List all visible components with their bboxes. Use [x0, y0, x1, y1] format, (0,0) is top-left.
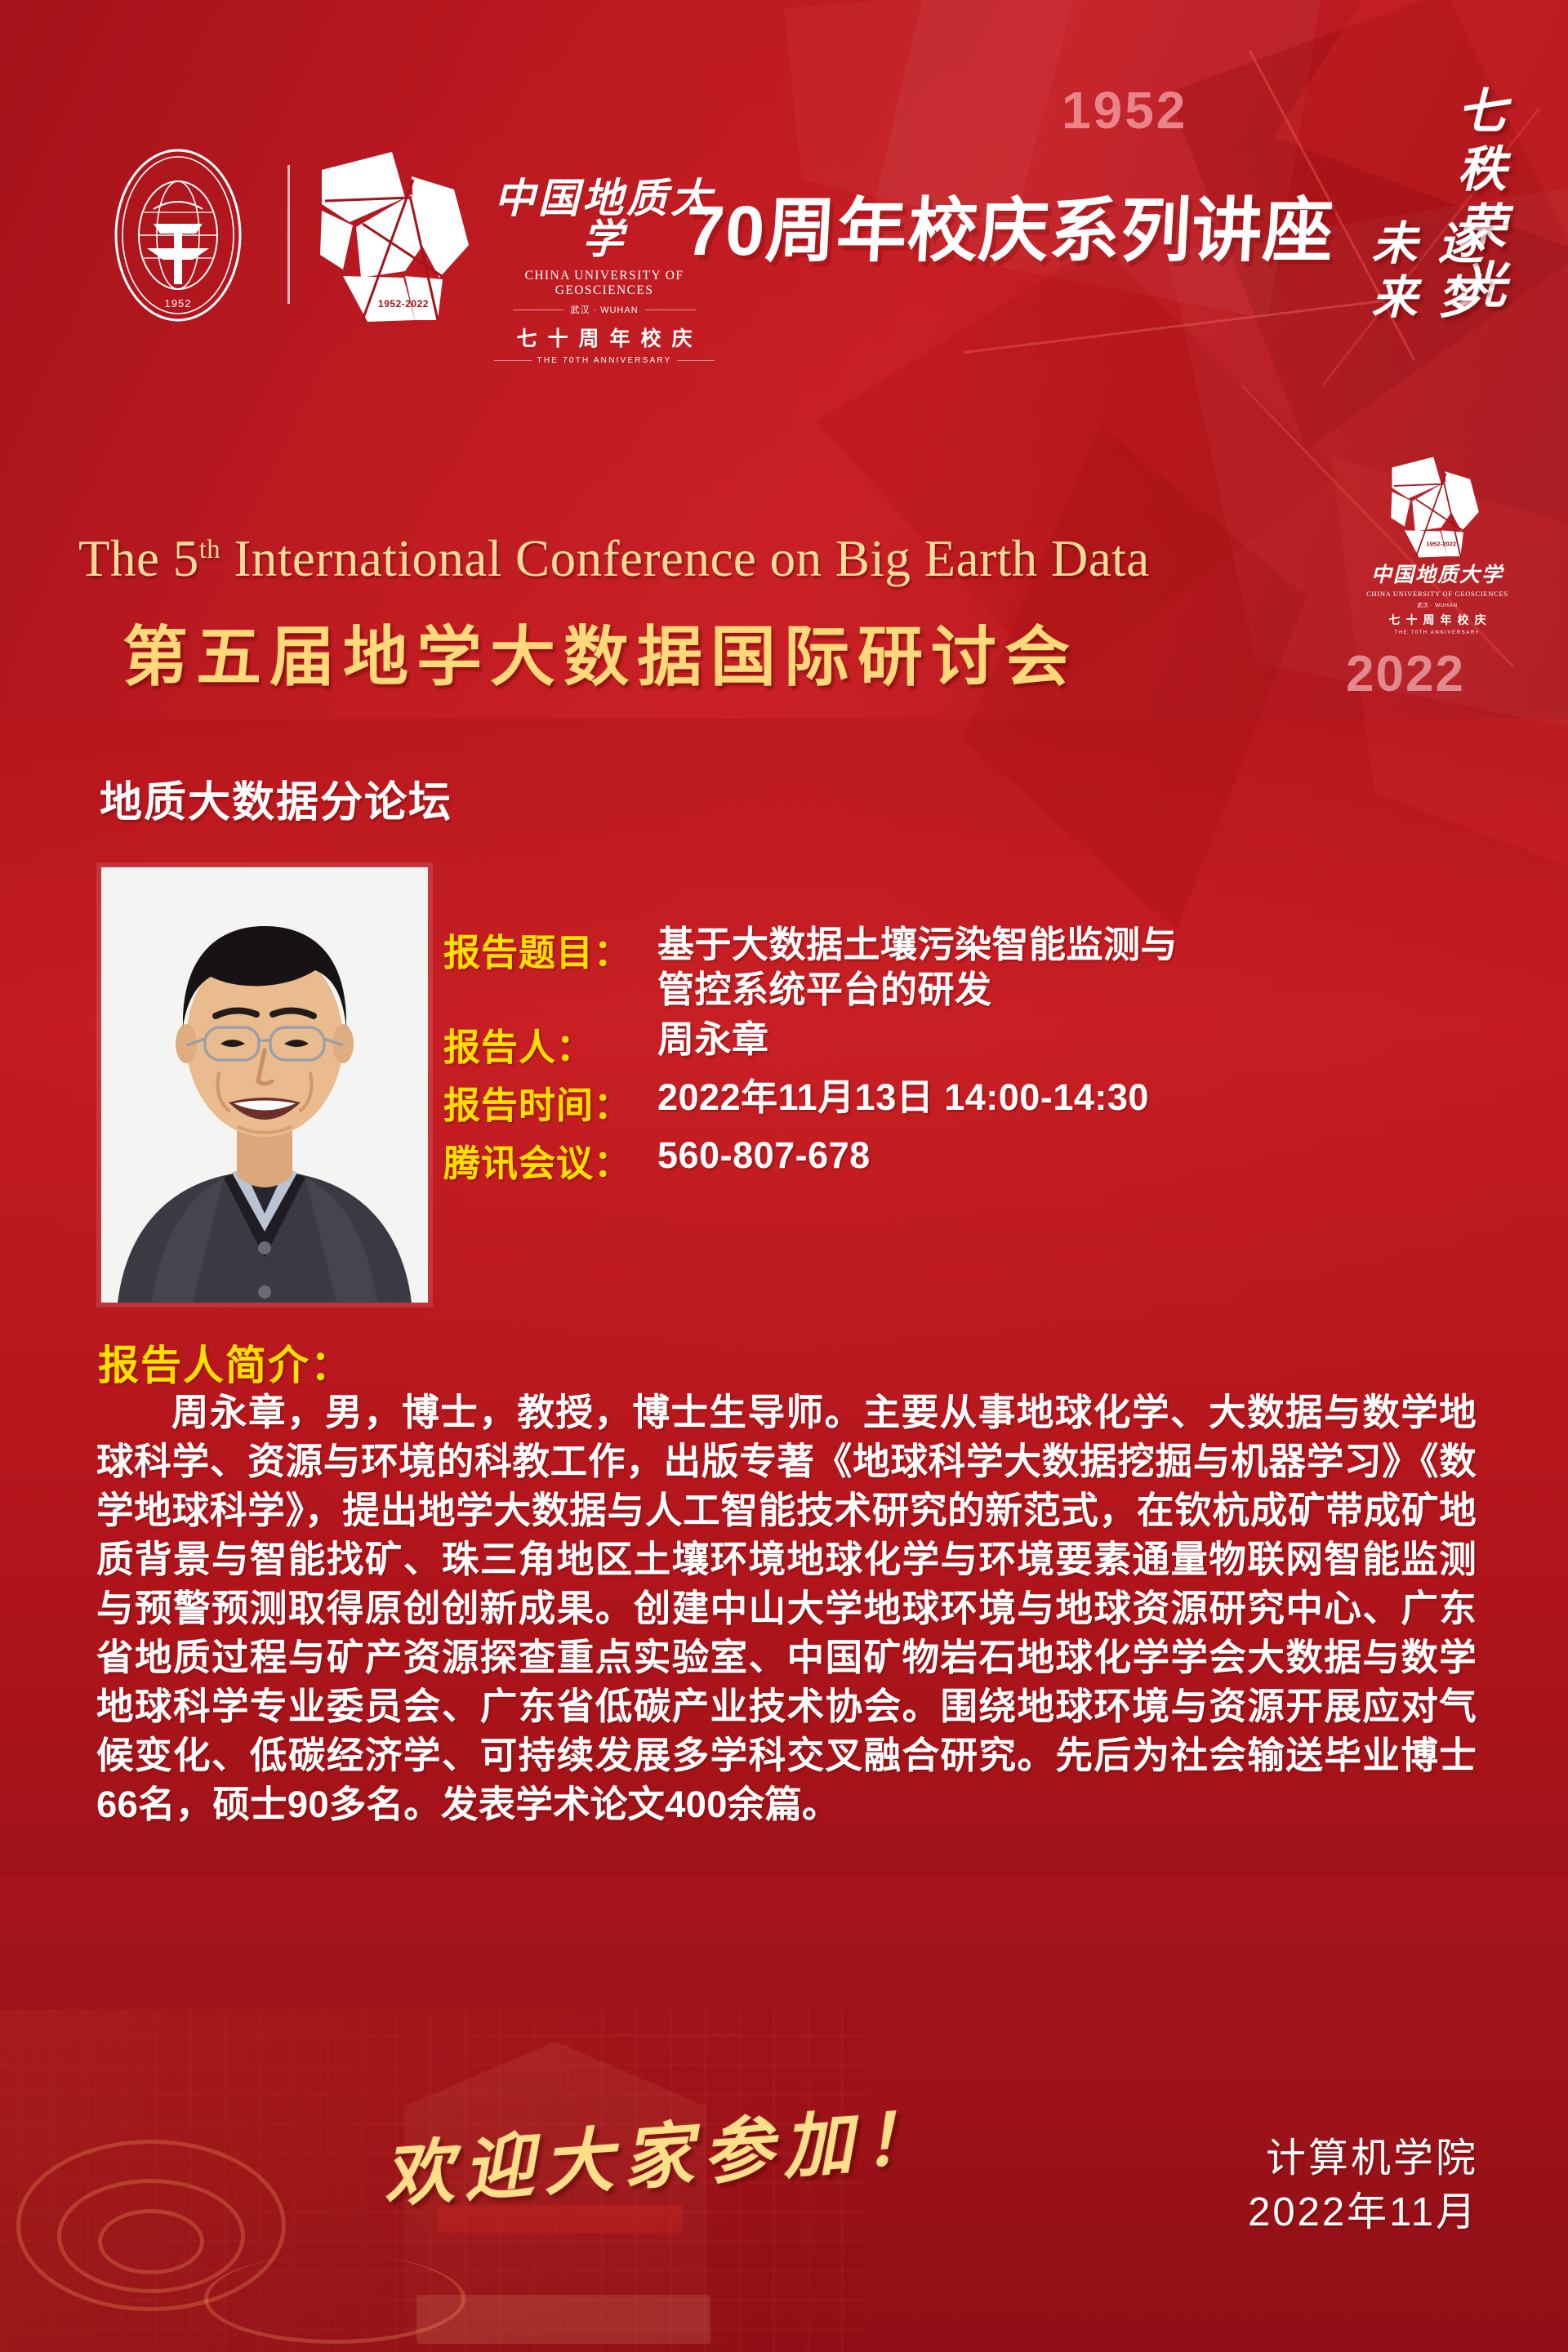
speaker-portrait: [101, 867, 428, 1303]
cloud-motif-icon: [98, 2209, 204, 2274]
talk-topic-line1: 基于大数据土壤污染智能监测与: [657, 923, 1178, 968]
conference-title-cn: 第五届地学大数据国际研讨会: [122, 604, 1078, 699]
wordmark-rule-anniversary: THE 70TH ANNIVERSARY: [490, 356, 719, 365]
emblem-university-name-en: CHINA UNIVERSITY OF GEOSCIENCES: [1356, 590, 1519, 598]
wordmark-rule-city: 武汉 · WUHAN: [490, 303, 719, 316]
poster-canvas: 1952 1952-2022 中国地质大学 CHINA UNI: [0, 0, 1568, 2352]
emblem-anniversary-cn: 七十周年校庆: [1356, 612, 1519, 628]
poster-header: 1952 1952-2022 中国地质大学 CHINA UNI: [0, 0, 1568, 327]
anniversary-cn: 七十周年校庆: [490, 323, 719, 352]
emblem-anniversary-en: THE 70TH ANNIVERSARY: [1356, 630, 1519, 635]
svg-text:1952-2022: 1952-2022: [378, 298, 429, 310]
conference-title-en: The 5th International Conference on Big …: [78, 529, 1150, 589]
footer-date: 2022年11月: [1248, 2185, 1478, 2239]
svg-text:1952-2022: 1952-2022: [1426, 540, 1456, 547]
talk-meeting-row: 腾讯会议： 560-807-678: [443, 1134, 1530, 1187]
anniversary-emblem-small: 1952-2022 中国地质大学 CHINA UNIVERSITY OF GEO…: [1356, 454, 1519, 635]
header-divider: [287, 165, 290, 304]
svg-text:1952: 1952: [165, 297, 192, 310]
footer-organizer-block: 计算机学院 2022年11月: [1248, 2131, 1478, 2239]
emblem-university-city: 武汉 · WUHAN: [1356, 600, 1519, 608]
talk-topic-line2: 管控系统平台的研发: [657, 968, 1178, 1013]
conference-title-en-rest: International Conference on Big Earth Da…: [220, 530, 1150, 587]
talk-topic-row: 报告题目： 基于大数据土壤污染智能监测与 管控系统平台的研发: [443, 923, 1530, 1013]
university-city: 武汉 · WUHAN: [570, 303, 638, 316]
talk-details: 报告题目： 基于大数据土壤污染智能监测与 管控系统平台的研发 报告人： 周永章 …: [443, 923, 1530, 1192]
talk-speaker-row: 报告人： 周永章: [443, 1018, 1530, 1071]
footer-organizer: 计算机学院: [1248, 2131, 1478, 2185]
university-seal-icon: 1952: [105, 144, 252, 327]
calligraphy-chase-the-future: 逐梦未来: [1357, 219, 1490, 327]
anniversary-70-emblem-small-icon: 1952-2022: [1380, 454, 1494, 560]
talk-meeting-label: 腾讯会议：: [443, 1134, 657, 1187]
lecture-series-title: 70周年校庆系列讲座: [684, 173, 1337, 275]
emblem-university-name-cn: 中国地质大学: [1356, 565, 1519, 586]
talk-time-label: 报告时间：: [443, 1076, 657, 1129]
year-start-watermark: 1952: [1062, 80, 1187, 140]
conference-title-en-ordinal: th: [199, 535, 220, 564]
cloud-motif-icon: [204, 2254, 465, 2344]
talk-time-row: 报告时间： 2022年11月13日 14:00-14:30: [443, 1076, 1530, 1129]
talk-time-value: 2022年11月13日 14:00-14:30: [657, 1076, 1149, 1120]
talk-speaker-label: 报告人：: [443, 1018, 657, 1071]
talk-speaker-value: 周永章: [657, 1018, 769, 1062]
talk-topic-value: 基于大数据土壤污染智能监测与 管控系统平台的研发: [657, 923, 1178, 1013]
conference-title-en-prefix: The 5: [78, 530, 199, 587]
anniversary-70-emblem-icon: 1952-2022: [314, 147, 483, 327]
bio-text: 周永章，男，博士，教授，博士生导师。主要从事地球化学、大数据与数学地球科学、资源…: [96, 1388, 1477, 1829]
anniversary-en: THE 70TH ANNIVERSARY: [537, 356, 672, 365]
year-end-watermark: 2022: [1346, 645, 1465, 703]
forum-name: 地质大数据分论坛: [100, 768, 452, 829]
bio-label: 报告人简介：: [98, 1333, 353, 1392]
talk-meeting-value: 560-807-678: [657, 1134, 871, 1178]
talk-topic-label: 报告题目：: [443, 923, 657, 976]
